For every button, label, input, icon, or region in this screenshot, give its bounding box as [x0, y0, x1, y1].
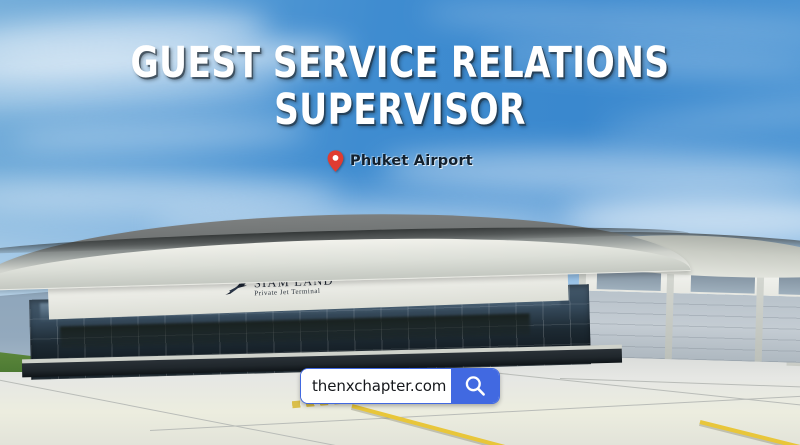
map-pin-icon [327, 150, 344, 172]
search-icon [463, 374, 487, 398]
search-value: thenxchapter.com [312, 377, 446, 395]
location-label: Phuket Airport [350, 153, 473, 169]
search-button[interactable] [451, 369, 499, 403]
job-poster: SIAM LAND Private Jet Terminal GUEST SER… [0, 0, 800, 445]
website-search-bar[interactable]: thenxchapter.com [300, 368, 500, 404]
location-row: Phuket Airport [0, 150, 800, 172]
search-input[interactable]: thenxchapter.com [301, 369, 451, 403]
page-title: GUEST SERVICE RELATIONS SUPERVISOR [80, 40, 720, 134]
sign-subtitle: Private Jet Terminal [254, 288, 334, 298]
